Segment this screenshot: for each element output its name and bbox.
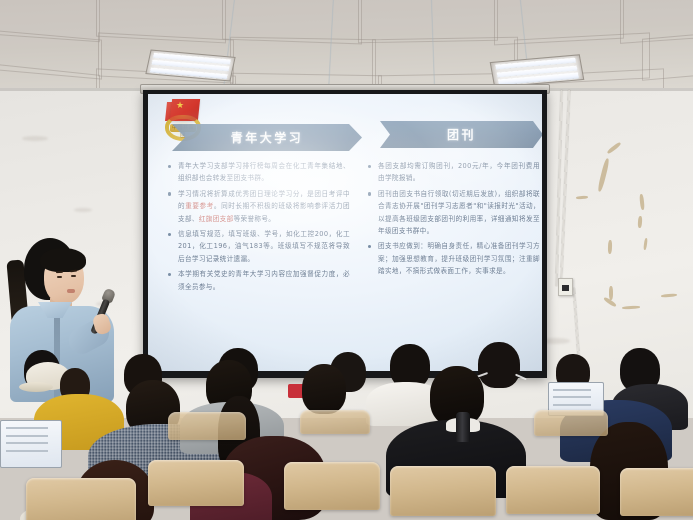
audience	[0, 340, 693, 520]
slide-surface: ★ 中国共青团 青年大学习 团刊 青年大学习支部学习排行榜每周会在化工青年集结地…	[148, 94, 542, 371]
chair-back-far	[168, 412, 246, 440]
black-thermos	[456, 412, 470, 442]
projection-screen: ★ 中国共青团 青年大学习 团刊 青年大学习支部学习排行榜每周会在化工青年集结地…	[143, 90, 547, 378]
chair-back-far	[300, 410, 370, 434]
presenter-mouth	[67, 289, 75, 293]
slide-column-left: 青年大学习支部学习排行榜每周会在化工青年集结地、组织部也会转发至团支书群。 学习…	[164, 160, 350, 296]
audience-head	[302, 364, 346, 414]
wall-junction-box	[558, 278, 573, 296]
list-item: 青年大学习支部学习排行榜每周会在化工青年集结地、组织部也会转发至团支书群。	[164, 160, 350, 185]
section-heading-banner-right: 团刊	[380, 121, 542, 148]
chair-back	[284, 462, 380, 510]
wall-tape-mark	[597, 158, 610, 192]
chair-back	[620, 468, 693, 516]
section-heading-banner-left: 青年大学习	[172, 124, 362, 151]
list-item: 团支书应做到：明确自身责任，精心准备团刊学习方案；加强思想教育，提升班级团刊学习…	[364, 240, 540, 277]
chair-back-far	[534, 410, 608, 436]
slide-column-right: 各团支部均需订购团刊，200元/年，今年团刊费用由学院报销。 团刊由团支书自行领…	[364, 160, 540, 281]
chair-back	[148, 460, 244, 506]
presenter-fringe	[40, 248, 86, 272]
open-laptop	[0, 420, 62, 468]
classroom-photo: ★ 中国共青团 青年大学习 团刊 青年大学习支部学习排行榜每周会在化工青年集结地…	[0, 0, 693, 520]
list-item: 信息填写规范，填写班级、学号，如化工控200，化工201，化工196，油气183…	[164, 228, 350, 265]
chair-back	[390, 466, 496, 516]
list-item: 各团支部均需订购团刊，200元/年，今年团刊费用由学院报销。	[364, 160, 540, 185]
list-item: 学习情况将折算成优秀团日理论学习分，是团日考评中的重要参考。同时长期不积极的班级…	[164, 188, 350, 225]
list-item: 本学期有关党史的青年大学习内容应加强督促力度，必须全员参与。	[164, 268, 350, 293]
audience-head	[478, 342, 520, 388]
chair-back	[506, 466, 600, 514]
list-item: 团刊由团支书自行领取(切近期后发放)，组织部将联合青志协开展"团刊学习志愿者"和…	[364, 188, 540, 238]
heading-youth-study: 青年大学习	[231, 129, 304, 146]
ceiling	[0, 0, 693, 96]
chair-back	[26, 478, 136, 520]
heading-league-journal: 团刊	[447, 126, 476, 143]
